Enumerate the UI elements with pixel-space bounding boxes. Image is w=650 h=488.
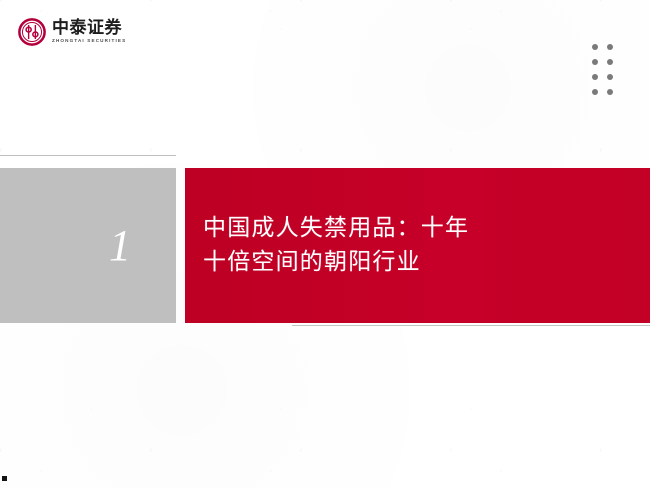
dot [607,89,613,95]
brand-name-en: ZHONGTAI SECURITIES [52,39,126,44]
section-title-bar: 中国成人失禁用品：十年 十倍空间的朝阳行业 [185,168,650,323]
brand-text-block: 中泰证券 ZHONGTAI SECURITIES [52,20,126,44]
dot [592,44,598,50]
section-title-line-1: 中国成人失禁用品：十年 [203,212,469,245]
dot [607,44,613,50]
divider-top-left [0,155,176,156]
dot [607,74,613,80]
dot-grid-icon [592,44,613,95]
zhongtai-circular-emblem-icon [18,18,46,46]
section-number: 1 [109,224,131,268]
brand-logo: 中泰证券 ZHONGTAI SECURITIES [18,18,126,46]
presentation-slide: 中泰证券 ZHONGTAI SECURITIES 1 中国成人失禁用品：十年 十… [0,0,650,488]
section-title-line-2: 十倍空间的朝阳行业 [203,246,469,279]
bullet-marker [2,476,7,481]
brand-name-cn: 中泰证券 [52,20,126,37]
dot [592,89,598,95]
section-title: 中国成人失禁用品：十年 十倍空间的朝阳行业 [185,212,487,279]
dot [592,74,598,80]
dot [592,59,598,65]
divider-bottom-right [292,325,650,326]
dot [607,59,613,65]
section-number-block: 1 [0,168,176,323]
